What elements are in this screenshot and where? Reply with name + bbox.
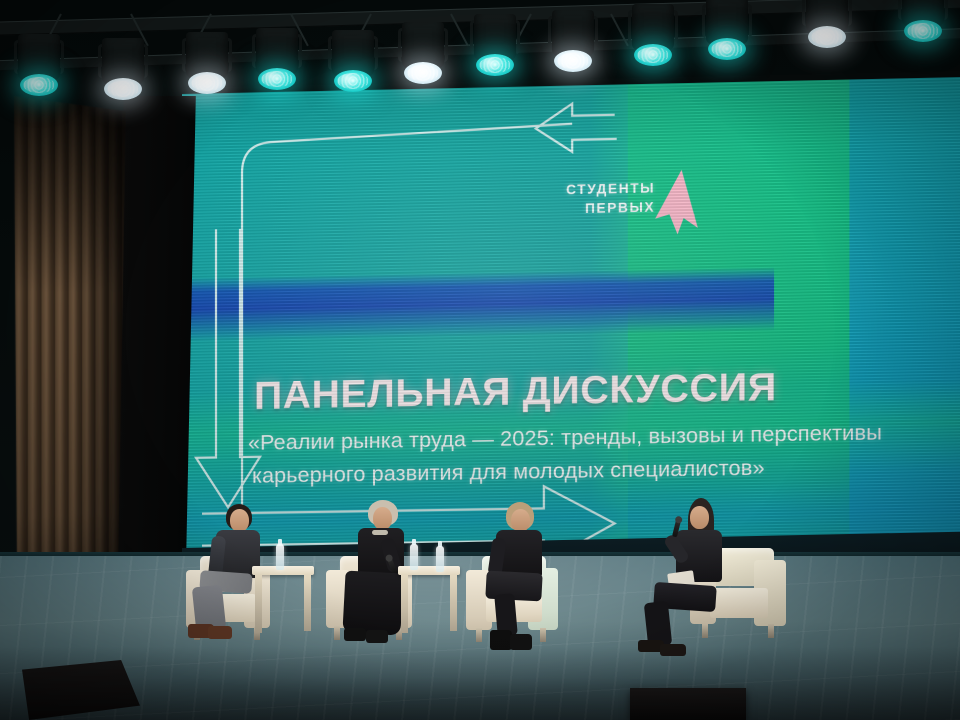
moving-head-light [800, 0, 854, 58]
moving-head-light [896, 0, 950, 52]
speaker-3 [480, 500, 554, 658]
logo-text: СТУДЕНТЫ ПЕРВЫХ [536, 178, 655, 219]
water-bottle [436, 546, 444, 572]
lighting-truss [0, 0, 960, 118]
logo-line-2: ПЕРВЫХ [585, 200, 655, 216]
led-screen: СТУДЕНТЫ ПЕРВЫХ ПАНЕЛЬНАЯ ДИСКУССИЯ «Реа… [182, 71, 960, 558]
stage-photo: СТУДЕНТЫ ПЕРВЫХ ПАНЕЛЬНАЯ ДИСКУССИЯ «Реа… [0, 0, 960, 720]
moving-head-light [700, 0, 754, 70]
moving-head-light [626, 4, 680, 76]
necklace [372, 530, 388, 535]
moving-head-light [546, 10, 600, 82]
moving-head-light [468, 14, 522, 86]
water-bottle [276, 544, 284, 570]
side-table [398, 566, 460, 638]
students-first-logo: СТУДЕНТЫ ПЕРВЫХ [536, 167, 698, 241]
moving-head-light [326, 30, 380, 102]
side-table [252, 566, 314, 638]
arrow-down-left [196, 228, 260, 507]
rounded-corner-path [242, 124, 572, 557]
moving-head-light [250, 28, 304, 100]
moving-head-light [180, 32, 234, 104]
moderator [660, 498, 744, 664]
moving-head-light [396, 22, 450, 94]
pink-arrow-up-icon [647, 167, 702, 239]
moving-head-light [96, 38, 150, 110]
moving-head-light [12, 34, 66, 106]
floor-monitor-center [630, 688, 746, 720]
logo-line-1: СТУДЕНТЫ [566, 180, 655, 197]
water-bottle [410, 544, 418, 570]
